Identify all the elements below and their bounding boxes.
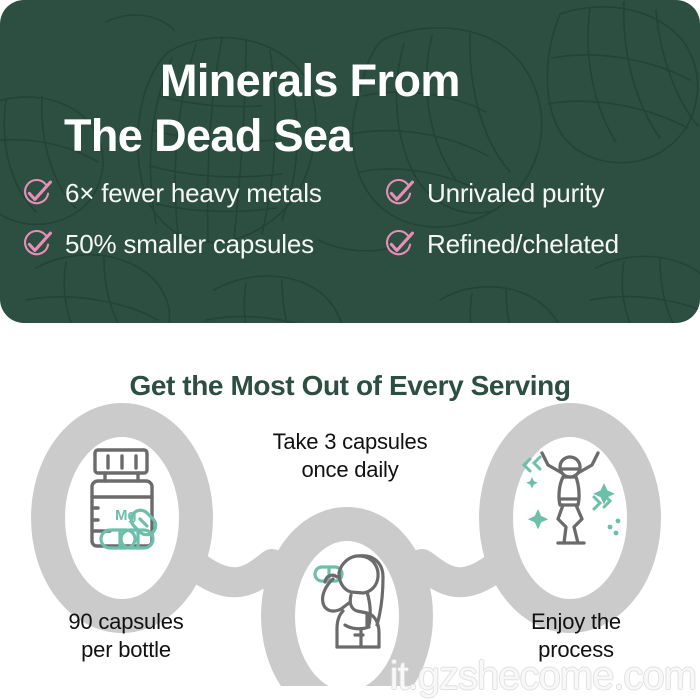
supplement-bottle-icon: Mg <box>72 442 176 559</box>
list-item: 6× fewer heavy metals <box>20 177 382 211</box>
feature-label: 50% smaller capsules <box>65 229 314 260</box>
hero-title-line-1: Minerals From <box>64 54 664 109</box>
check-circle-icon <box>20 177 54 211</box>
hero-title-line-2: The Dead Sea <box>64 109 664 164</box>
check-circle-icon <box>382 177 416 211</box>
dancing-person-icon <box>516 443 624 560</box>
list-item: Unrivaled purity <box>382 177 682 211</box>
label-line-1: Take 3 capsules <box>238 428 462 456</box>
check-circle-icon <box>382 228 416 262</box>
label-line-1: 90 capsules <box>20 608 232 636</box>
list-item: Refined/chelated <box>382 228 682 262</box>
step-label-enjoy-the-process: Enjoy the process <box>470 608 682 663</box>
label-line-2: process <box>470 636 682 664</box>
feature-label: Refined/chelated <box>427 229 619 260</box>
feature-label: Unrivaled purity <box>427 178 604 209</box>
label-line-2: per bottle <box>20 636 232 664</box>
hero-banner: Minerals From The Dead Sea 6× fewer heav… <box>0 0 700 323</box>
check-circle-icon <box>20 228 54 262</box>
step-label-capsules-per-bottle: 90 capsules per bottle <box>20 608 232 663</box>
feature-label: 6× fewer heavy metals <box>65 178 322 209</box>
label-line-2: once daily <box>238 456 462 484</box>
label-line-1: Enjoy the <box>470 608 682 636</box>
step-label-take-capsules: Take 3 capsules once daily <box>238 428 462 483</box>
hero-feature-list: 6× fewer heavy metals Unrivaled purity <box>20 168 690 270</box>
list-item: 50% smaller capsules <box>20 228 382 262</box>
person-taking-capsule-icon <box>299 543 403 660</box>
hero-title: Minerals From The Dead Sea <box>64 54 664 164</box>
